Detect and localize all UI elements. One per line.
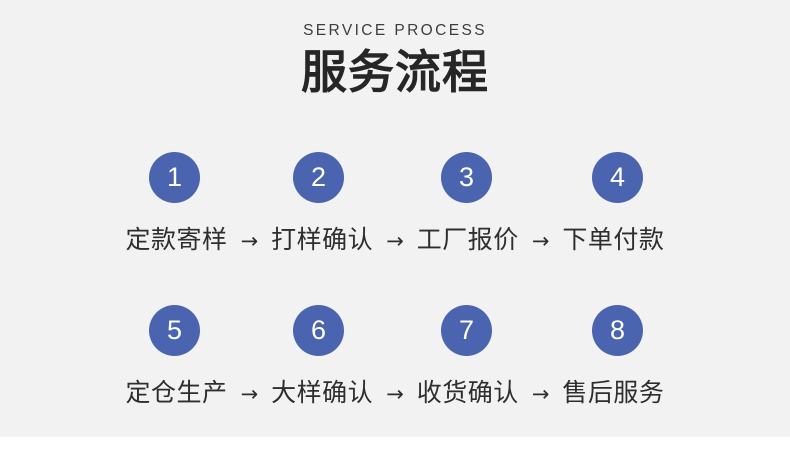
step-label-2: 打样确认 [271, 220, 373, 256]
bottom-white-strip [0, 437, 790, 450]
process-row-2: 5 6 7 8 定仓生产 → 大样确认 → 收货确认 → 售后服务 [0, 305, 790, 409]
step-label-5: 定仓生产 [126, 373, 228, 409]
arrow-right-icon: → [519, 231, 563, 252]
step-label-8: 售后服务 [562, 373, 664, 409]
step-badge-8: 8 [592, 305, 643, 356]
step-badge-4: 4 [592, 152, 643, 203]
arrow-right-icon: → [373, 231, 417, 252]
step-label-3: 工厂报价 [417, 220, 519, 256]
step-badge-7: 7 [441, 305, 492, 356]
poster-title: 服务流程 [0, 41, 790, 99]
step-badge-2: 2 [293, 152, 344, 203]
step-badge-5: 5 [149, 305, 200, 356]
badge-group-row-2: 5 6 7 8 [0, 305, 790, 357]
arrow-right-icon: → [373, 384, 417, 405]
step-label-group-row-2: 定仓生产 → 大样确认 → 收货确认 → 售后服务 [0, 373, 790, 409]
badge-group-row-1: 1 2 3 4 [0, 152, 790, 204]
arrow-right-icon: → [519, 384, 563, 405]
process-row-1: 1 2 3 4 定款寄样 → 打样确认 → 工厂报价 → 下单付款 [0, 152, 790, 256]
step-label-7: 收货确认 [417, 373, 519, 409]
poster-eyebrow: SERVICE PROCESS [0, 0, 790, 41]
poster-header: SERVICE PROCESS 服务流程 [0, 0, 790, 98]
arrow-right-icon: → [228, 384, 272, 405]
step-badge-3: 3 [441, 152, 492, 203]
step-label-6: 大样确认 [271, 373, 373, 409]
step-label-4: 下单付款 [562, 220, 664, 256]
step-badge-6: 6 [293, 305, 344, 356]
service-process-poster: SERVICE PROCESS 服务流程 1 2 3 4 定款寄样 → 打样确认… [0, 0, 790, 437]
step-label-1: 定款寄样 [126, 220, 228, 256]
arrow-right-icon: → [228, 231, 272, 252]
step-badge-1: 1 [149, 152, 200, 203]
step-label-group-row-1: 定款寄样 → 打样确认 → 工厂报价 → 下单付款 [0, 220, 790, 256]
